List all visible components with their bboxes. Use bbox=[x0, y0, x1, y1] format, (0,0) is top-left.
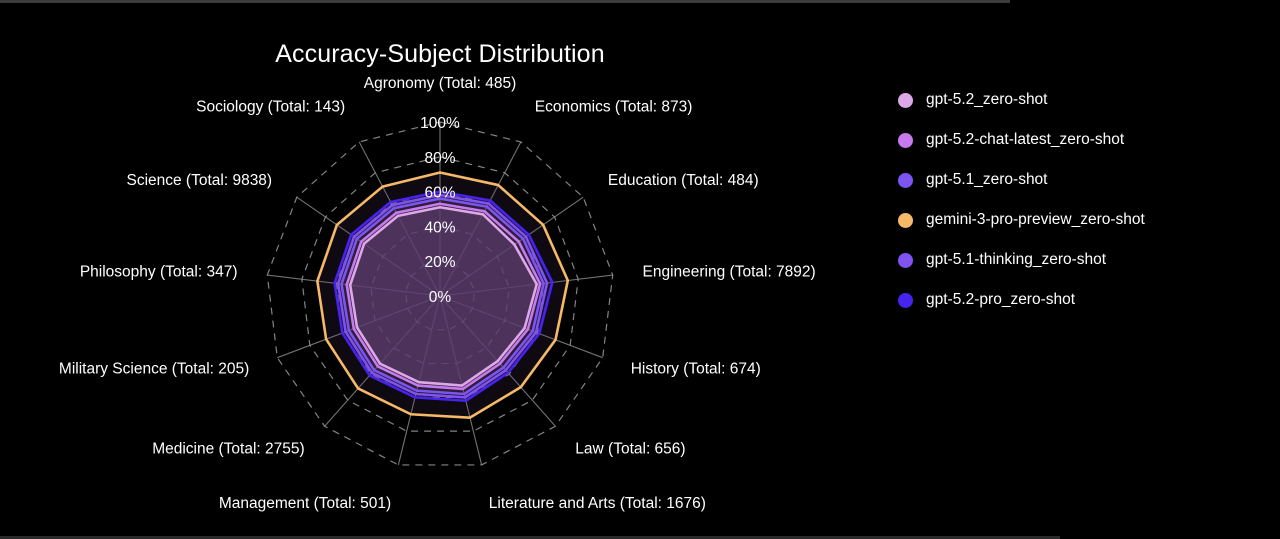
legend-item-label: gpt-5.2-chat-latest_zero-shot bbox=[926, 131, 1124, 149]
legend-swatch-icon bbox=[898, 93, 913, 108]
legend-item[interactable]: gpt-5.2-pro_zero-shot bbox=[898, 280, 1268, 320]
radar-chart-page: Accuracy-Subject Distribution 0%20%40%60… bbox=[0, 0, 1280, 539]
category-label: Sociology (Total: 143) bbox=[196, 98, 345, 115]
chart-legend: gpt-5.2_zero-shotgpt-5.2-chat-latest_zer… bbox=[898, 80, 1268, 320]
category-label: Philosophy (Total: 347) bbox=[80, 263, 238, 280]
radial-tick-label: 60% bbox=[424, 185, 455, 202]
category-label: Military Science (Total: 205) bbox=[59, 360, 249, 377]
legend-item-label: gpt-5.1-thinking_zero-shot bbox=[926, 251, 1106, 269]
legend-item[interactable]: gpt-5.1-thinking_zero-shot bbox=[898, 240, 1268, 280]
radar-chart: 0%20%40%60%80%100%Agronomy (Total: 485)E… bbox=[0, 0, 880, 539]
category-label: History (Total: 674) bbox=[631, 360, 761, 377]
category-label: Science (Total: 9838) bbox=[126, 172, 272, 189]
legend-item[interactable]: gpt-5.2-chat-latest_zero-shot bbox=[898, 120, 1268, 160]
category-label: Medicine (Total: 2755) bbox=[152, 441, 305, 458]
radial-tick-label: 100% bbox=[420, 115, 460, 132]
category-label: Education (Total: 484) bbox=[608, 172, 759, 189]
legend-swatch-icon bbox=[898, 133, 913, 148]
category-label: Agronomy (Total: 485) bbox=[364, 75, 517, 92]
legend-item-label: gpt-5.2_zero-shot bbox=[926, 91, 1048, 109]
legend-swatch-icon bbox=[898, 173, 913, 188]
radial-tick-label: 40% bbox=[424, 219, 455, 236]
category-label: Law (Total: 656) bbox=[575, 441, 685, 458]
radial-tick-label: 20% bbox=[424, 254, 455, 271]
radial-tick-label: 80% bbox=[424, 150, 455, 167]
legend-item-label: gpt-5.1_zero-shot bbox=[926, 171, 1048, 189]
category-label: Engineering (Total: 7892) bbox=[643, 263, 816, 280]
chart-area: Accuracy-Subject Distribution 0%20%40%60… bbox=[0, 0, 880, 539]
legend-item[interactable]: gpt-5.2_zero-shot bbox=[898, 80, 1268, 120]
category-label: Economics (Total: 873) bbox=[535, 98, 693, 115]
category-label: Management (Total: 501) bbox=[219, 495, 391, 512]
radial-tick-label: 0% bbox=[429, 289, 452, 306]
legend-swatch-icon bbox=[898, 293, 913, 308]
legend-item[interactable]: gpt-5.1_zero-shot bbox=[898, 160, 1268, 200]
legend-item[interactable]: gemini-3-pro-preview_zero-shot bbox=[898, 200, 1268, 240]
legend-swatch-icon bbox=[898, 253, 913, 268]
legend-swatch-icon bbox=[898, 213, 913, 228]
legend-item-label: gpt-5.2-pro_zero-shot bbox=[926, 291, 1075, 309]
legend-item-label: gemini-3-pro-preview_zero-shot bbox=[926, 211, 1145, 229]
category-label: Literature and Arts (Total: 1676) bbox=[489, 495, 706, 512]
